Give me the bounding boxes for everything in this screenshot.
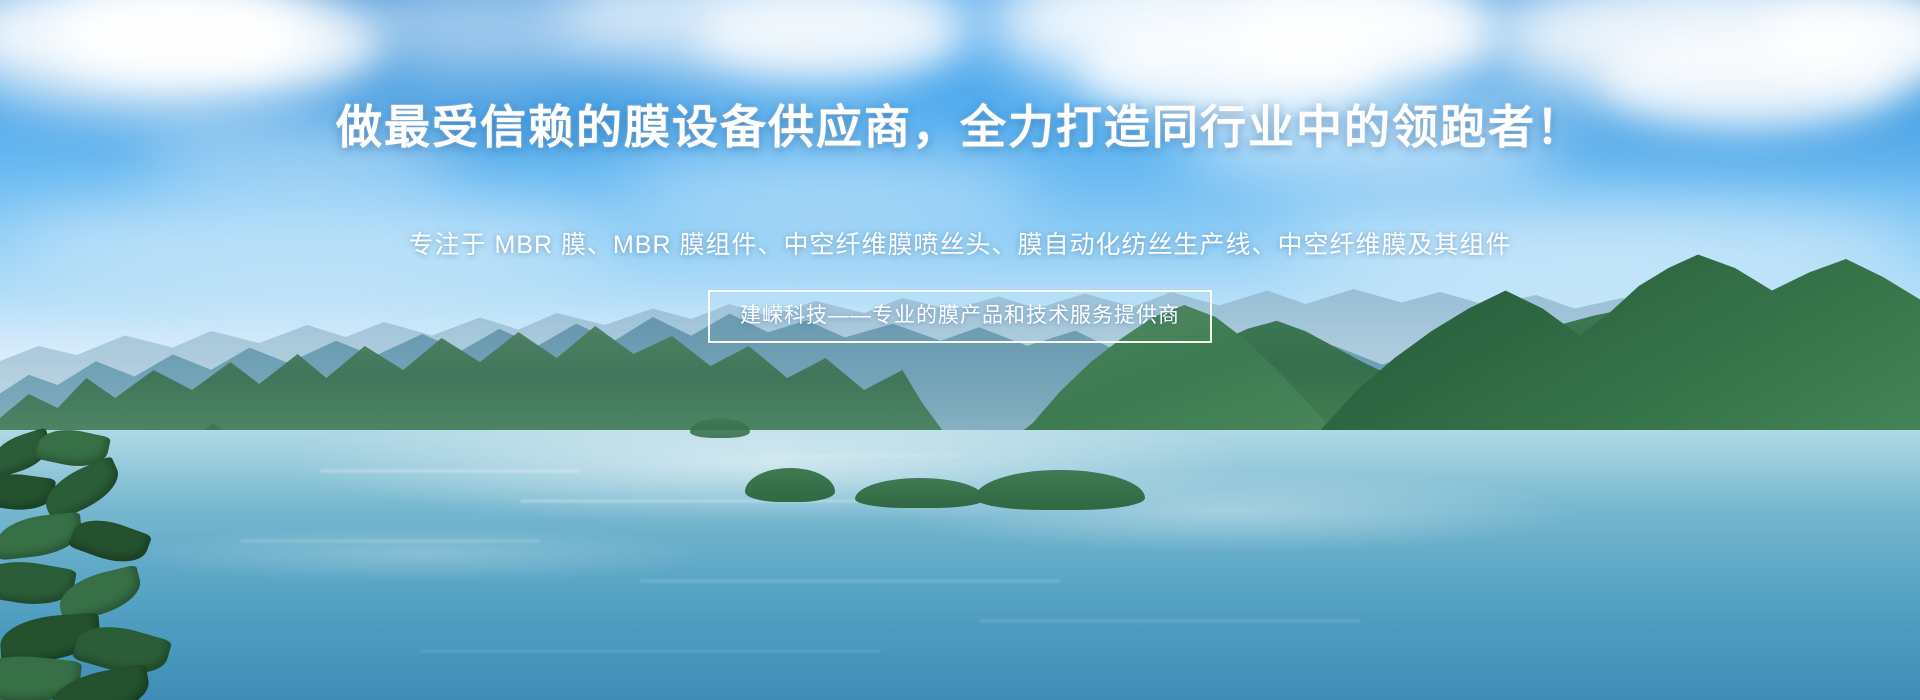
banner-tagline-box: 建嵘科技——专业的膜产品和技术服务提供商 [708, 290, 1212, 343]
banner-text-overlay: 做最受信赖的膜设备供应商，全力打造同行业中的领跑者！ 专注于 MBR 膜、MBR… [0, 0, 1920, 700]
banner-tagline-container: 建嵘科技——专业的膜产品和技术服务提供商 [0, 290, 1920, 343]
banner-headline: 做最受信赖的膜设备供应商，全力打造同行业中的领跑者！ [0, 100, 1920, 154]
hero-banner: 做最受信赖的膜设备供应商，全力打造同行业中的领跑者！ 专注于 MBR 膜、MBR… [0, 0, 1920, 700]
banner-subtitle: 专注于 MBR 膜、MBR 膜组件、中空纤维膜喷丝头、膜自动化纺丝生产线、中空纤… [0, 228, 1920, 262]
